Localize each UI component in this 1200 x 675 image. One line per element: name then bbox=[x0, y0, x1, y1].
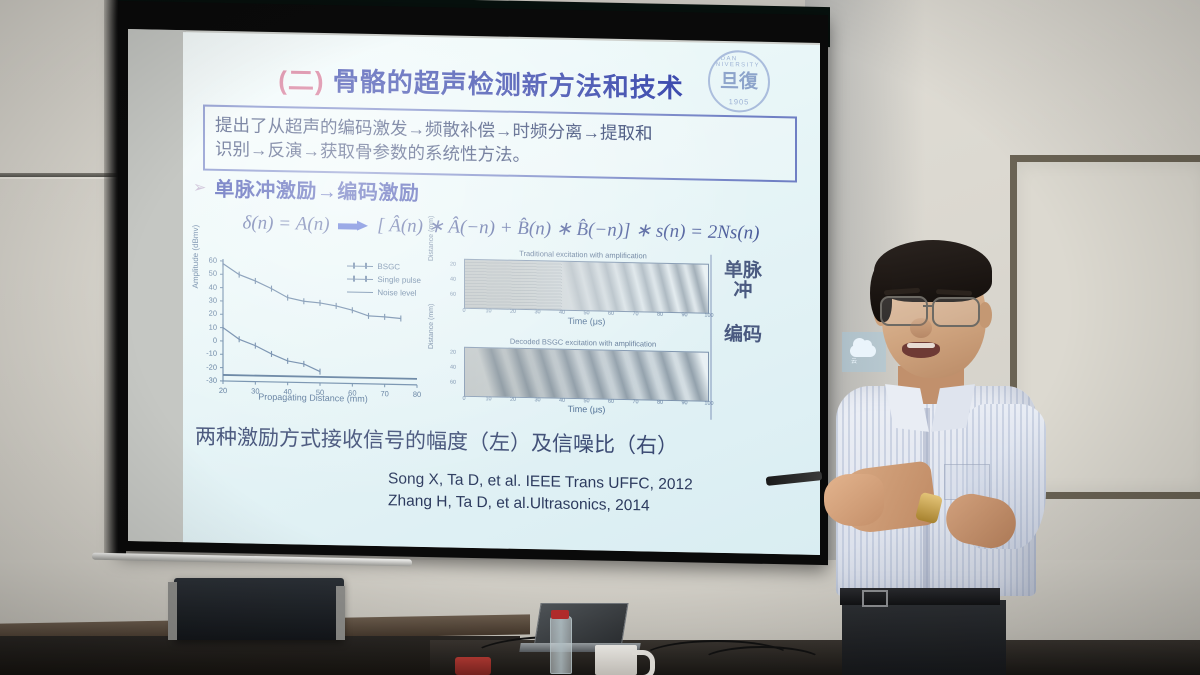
office-chair bbox=[174, 578, 344, 640]
logo-ring-text: FUDAN UNIVERSITY bbox=[710, 56, 768, 69]
chart-amplitude-vs-distance: Amplitude (dBmv) Propagating Distance (m… bbox=[193, 254, 423, 409]
bscan-x-tick: 20 bbox=[510, 309, 516, 315]
excitation-mode-labels: 单脉冲 编码 bbox=[723, 261, 763, 345]
bscan-x-tick: 0 bbox=[462, 396, 465, 402]
bscan-y-tick: 40 bbox=[450, 277, 456, 283]
coffee-mug bbox=[595, 645, 637, 675]
bscan-x-tick: 20 bbox=[510, 397, 516, 403]
chair-arm-right bbox=[336, 586, 345, 640]
presenter bbox=[826, 238, 1126, 675]
chart-decoded-bsgc-excitation: Decoded BSGC excitation with amplificati… bbox=[438, 335, 713, 421]
screen-unlit-margin bbox=[128, 29, 186, 542]
presenter-glasses-bridge bbox=[923, 305, 934, 307]
projection-screen: (二) 骨骼的超声检测新方法和技术 FUDAN UNIVERSITY 旦復 19… bbox=[128, 29, 820, 555]
water-bottle-cap bbox=[551, 610, 569, 619]
implies-arrow-icon bbox=[338, 220, 368, 232]
bscan-x-tick: 80 bbox=[657, 400, 663, 406]
bscan-x-tick: 90 bbox=[681, 312, 687, 318]
laptop-screen bbox=[533, 603, 628, 648]
chair-arm-left bbox=[168, 582, 177, 640]
figure-caption: 两种激励方式接收信号的幅度（左）及信噪比（右） bbox=[195, 420, 735, 461]
bscan1-y-label: Distance (mm) bbox=[428, 216, 435, 262]
bscan-x-tick: 50 bbox=[583, 310, 589, 316]
bscan-y-tick: 20 bbox=[450, 350, 456, 356]
bscan-x-tick: 60 bbox=[608, 399, 614, 405]
slide-title-paren: (二) bbox=[278, 65, 324, 96]
fudan-university-logo-icon: FUDAN UNIVERSITY 旦復 1905 bbox=[708, 50, 770, 113]
equation: δ(n) = A(n) [ Â(n) ∗ Â(−n) + B̂(n) ∗ B̂(… bbox=[211, 211, 791, 246]
slide-title-main: 骨骼的超声检测新方法和技术 bbox=[333, 66, 684, 103]
line-chart-svg bbox=[193, 254, 423, 409]
bscan2-y-label: Distance (mm) bbox=[428, 304, 435, 350]
bullet-text: 单脉冲激励→编码激励 bbox=[214, 173, 419, 206]
chart-series-single-pulse bbox=[223, 328, 320, 372]
slide-vertical-divider bbox=[710, 255, 712, 420]
chart-series-bsgc bbox=[223, 264, 401, 319]
bscan-x-tick: 40 bbox=[559, 398, 565, 404]
bscan-y-tick: 20 bbox=[450, 262, 456, 268]
lecture-photo-scene: (二) 骨骼的超声检测新方法和技术 FUDAN UNIVERSITY 旦復 19… bbox=[0, 0, 1200, 675]
bscan-x-tick: 40 bbox=[559, 310, 565, 316]
line-chart-canvas: Amplitude (dBmv) Propagating Distance (m… bbox=[193, 254, 423, 409]
equation-lhs: δ(n) = A(n) bbox=[243, 212, 330, 235]
cable bbox=[700, 646, 824, 675]
bscan-y-tick: 60 bbox=[450, 292, 456, 298]
bscan-x-tick: 70 bbox=[632, 311, 638, 317]
bullet-arrow-icon: ➢ bbox=[193, 177, 206, 197]
logo-year: 1905 bbox=[729, 97, 750, 106]
presentation-slide: (二) 骨骼的超声检测新方法和技术 FUDAN UNIVERSITY 旦復 19… bbox=[183, 32, 820, 555]
red-desk-object bbox=[455, 657, 491, 675]
slide-title: (二) 骨骼的超声检测新方法和技术 bbox=[241, 59, 721, 106]
bscan-x-tick: 100 bbox=[704, 401, 713, 407]
bscan-x-tick: 80 bbox=[657, 312, 663, 318]
bscan-noise-region bbox=[465, 260, 562, 310]
bscan-x-tick: 30 bbox=[534, 309, 540, 315]
bscan-x-tick: 50 bbox=[583, 398, 589, 404]
label-single-pulse-cn: 单脉冲 bbox=[723, 261, 763, 301]
label-coded-cn: 编码 bbox=[723, 324, 763, 345]
presenter-ear-right bbox=[978, 302, 992, 328]
water-bottle bbox=[550, 616, 572, 674]
bscan-x-tick: 30 bbox=[534, 397, 540, 403]
bscan-x-tick: 60 bbox=[608, 311, 614, 317]
chart-series-noise-level bbox=[223, 375, 417, 379]
bscan-x-tick: 90 bbox=[681, 400, 687, 406]
bscan-y-tick: 60 bbox=[450, 380, 456, 386]
presenter-mouth bbox=[902, 342, 940, 358]
bscan-x-tick: 10 bbox=[485, 396, 491, 402]
chart-traditional-excitation: Traditional excitation with amplificatio… bbox=[438, 247, 713, 333]
presenter-nose bbox=[910, 318, 932, 338]
bscan2-plot-area bbox=[464, 347, 709, 402]
bscan-x-tick: 70 bbox=[632, 399, 638, 405]
presenter-hands bbox=[824, 474, 884, 526]
reference-list: Song X, Ta D, et al. IEEE Trans UFFC, 20… bbox=[388, 468, 808, 521]
bscan-x-tick: 0 bbox=[462, 308, 465, 314]
bscan-y-tick: 40 bbox=[450, 365, 456, 371]
coffee-mug-handle bbox=[632, 650, 655, 675]
bscan-x-tick: 10 bbox=[485, 308, 491, 314]
statement-box: 提出了从超声的编码激发→频散补偿→时频分离→提取和 识别→反演→获取骨参数的系统… bbox=[203, 105, 797, 183]
bscan-x-tick: 100 bbox=[704, 313, 713, 319]
bscan1-plot-area bbox=[464, 259, 709, 314]
presenter-trousers bbox=[842, 600, 1006, 675]
presenter-belt-buckle bbox=[862, 590, 888, 607]
presenter-glasses-right-lens bbox=[932, 297, 980, 327]
bscan-charts-group: Traditional excitation with amplificatio… bbox=[438, 247, 713, 421]
logo-characters: 旦復 bbox=[720, 71, 758, 91]
